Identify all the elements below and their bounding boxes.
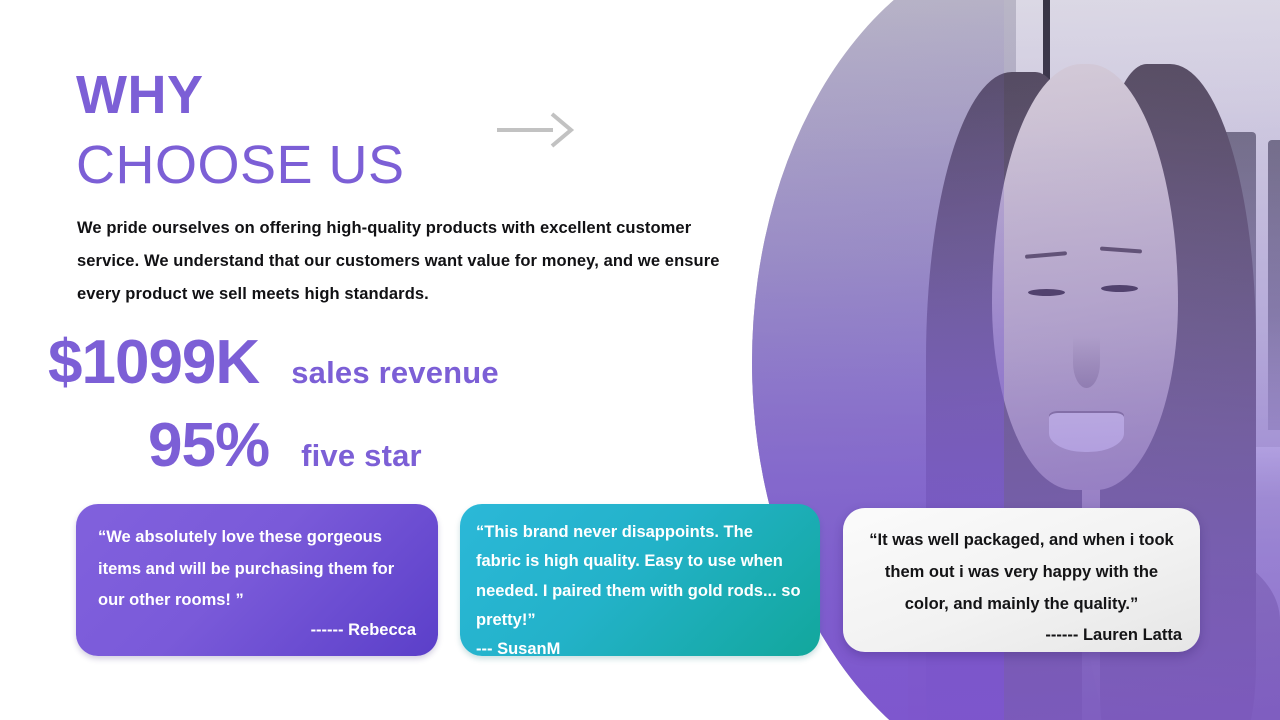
testimonial-quote: “It was well packaged, and when i took t… — [861, 524, 1182, 621]
page-title-line-1: WHY — [76, 68, 506, 122]
testimonial-quote: “This brand never disappoints. The fabri… — [476, 518, 802, 635]
testimonial-quote: “We absolutely love these gorgeous items… — [98, 522, 416, 617]
stat-row: 95% five star — [48, 413, 648, 478]
testimonial-card-rebecca: “We absolutely love these gorgeous items… — [76, 504, 438, 656]
stats-group: $1099K sales revenue 95% five star — [48, 330, 648, 478]
arrow-right-icon — [497, 112, 575, 148]
body-paragraph: We pride ourselves on offering high-qual… — [77, 212, 749, 311]
testimonial-attribution: --- SusanM — [476, 640, 560, 658]
stat-label-revenue: sales revenue — [291, 355, 499, 391]
stat-value-rating: 95% — [148, 413, 269, 478]
testimonial-card-susanm: “This brand never disappoints. The fabri… — [460, 504, 820, 656]
testimonial-attribution: ------ Lauren Latta — [861, 619, 1182, 651]
testimonial-attribution: ------ Rebecca — [98, 615, 416, 647]
stat-row: $1099K sales revenue — [48, 330, 648, 395]
slide-why-choose-us: WHY CHOOSE US We pride ourselves on offe… — [0, 0, 1280, 720]
page-title-line-2: CHOOSE US — [76, 138, 506, 192]
stat-label-rating: five star — [301, 438, 422, 474]
testimonial-card-lauren-latta: “It was well packaged, and when i took t… — [843, 508, 1200, 652]
stat-value-revenue: $1099K — [48, 330, 259, 395]
page-title: WHY CHOOSE US — [76, 68, 506, 192]
